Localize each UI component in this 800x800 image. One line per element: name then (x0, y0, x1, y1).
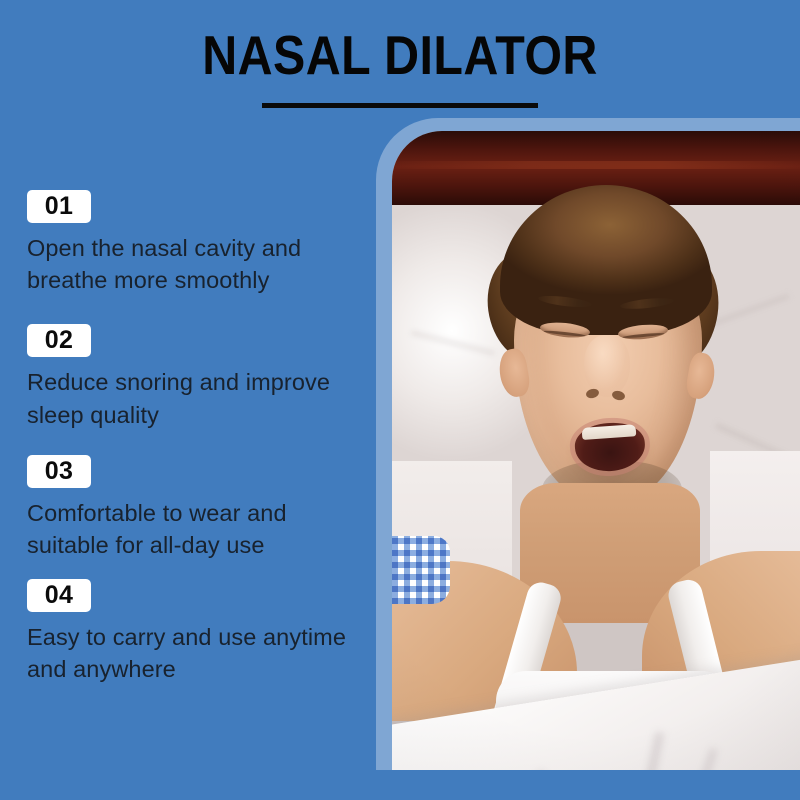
title-underline-rule (262, 103, 538, 108)
pillow-fold (411, 331, 495, 356)
feature-list: 01 Open the nasal cavity and breathe mor… (27, 190, 367, 708)
feature-number-badge-01: 01 (27, 190, 91, 223)
page-title: NASAL DILATOR (48, 28, 752, 83)
list-item: 04 Easy to carry and use anytime and any… (27, 579, 367, 685)
photo-frame (376, 118, 800, 770)
list-item: 02 Reduce snoring and improve sleep qual… (27, 324, 367, 430)
feature-number-badge-04: 04 (27, 579, 91, 612)
teeth (582, 424, 637, 440)
feature-number-badge-03: 03 (27, 455, 91, 488)
list-item: 03 Comfortable to wear and suitable for … (27, 455, 367, 561)
photo-inner (392, 131, 800, 770)
feature-number-badge-02: 02 (27, 324, 91, 357)
feature-text-04: Easy to carry and use anytime and anywhe… (27, 621, 362, 685)
list-item: 01 Open the nasal cavity and breathe mor… (27, 190, 367, 296)
product-lifestyle-photo (392, 131, 800, 770)
title-block: NASAL DILATOR (0, 28, 800, 108)
gingham-fabric-patch (392, 536, 450, 604)
poster-root: NASAL DILATOR 01 Open the nasal cavity a… (0, 0, 800, 800)
feature-text-01: Open the nasal cavity and breathe more s… (27, 232, 362, 296)
feature-text-02: Reduce snoring and improve sleep quality (27, 366, 362, 430)
nose (584, 335, 630, 397)
feature-text-03: Comfortable to wear and suitable for all… (27, 497, 362, 561)
